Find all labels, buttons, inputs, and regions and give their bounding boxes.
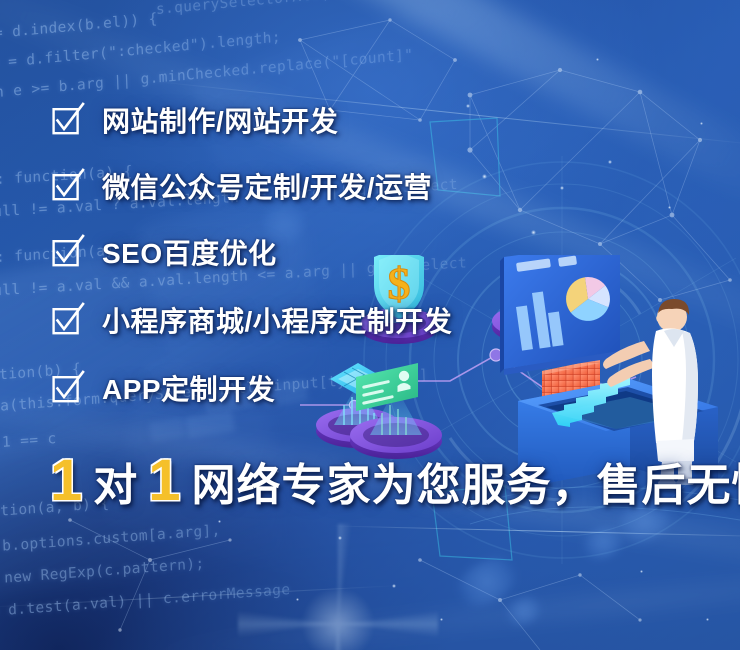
checkbox-checked-icon — [52, 105, 82, 135]
promo-headline: 1 对 1 网络专家为您服务，售后无忧！ — [50, 452, 740, 510]
checklist-item-label: 微信公众号定制/开发/运营 — [102, 166, 432, 206]
banner-canvas: s.querySelectorAll('input[type=checkbox]… — [0, 0, 740, 650]
checkbox-checked-icon — [52, 305, 82, 335]
headline-number-first: 1 — [50, 452, 82, 510]
code-line: = b.options.custom[a.arg], — [0, 523, 221, 556]
lens-flare-icon — [238, 524, 438, 650]
dashboard-screen-icon — [500, 255, 620, 375]
checklist-item-0[interactable]: 网站制作/网站开发 — [52, 100, 338, 140]
checkbox-checked-icon — [52, 171, 82, 201]
analytics-console-node — [500, 255, 730, 485]
checklist-item-2[interactable]: SEO百度优化 — [52, 232, 277, 272]
code-line: 1 == c — [2, 431, 57, 451]
code-line: = d.index(b.el)) { — [0, 11, 158, 42]
checkbox-checked-icon — [52, 237, 82, 267]
headline-word-middle: 对 — [93, 464, 137, 508]
checklist-item-3[interactable]: 小程序商城/小程序定制开发 — [52, 300, 452, 340]
checklist-item-label: APP定制开发 — [102, 368, 275, 408]
illustration-isometric-scene: $ B — [300, 255, 740, 485]
code-line: = new RegExp(c.pattern); — [0, 556, 205, 588]
checkbox-checked-icon — [52, 373, 82, 403]
checklist-item-label: SEO百度优化 — [102, 232, 277, 272]
headline-main-text: 网络专家为您服务，售后无忧！ — [192, 464, 740, 508]
code-line: e = d.filter(":checked").length; — [0, 30, 281, 72]
checklist-item-4[interactable]: APP定制开发 — [52, 368, 275, 408]
code-line: rn e >= b.arg || g.minChecked.replace("[… — [0, 47, 414, 102]
code-line: n d.test(a.val) || c.errorMessage — [0, 582, 291, 620]
code-line: s.querySelectorAll('input[type=checkbox]… — [156, 0, 584, 18]
checklist-item-label: 网站制作/网站开发 — [102, 100, 338, 140]
headline-number-second: 1 — [148, 452, 180, 510]
checklist-item-1[interactable]: 微信公众号定制/开发/运营 — [52, 166, 432, 206]
checklist-item-label: 小程序商城/小程序定制开发 — [102, 300, 452, 340]
